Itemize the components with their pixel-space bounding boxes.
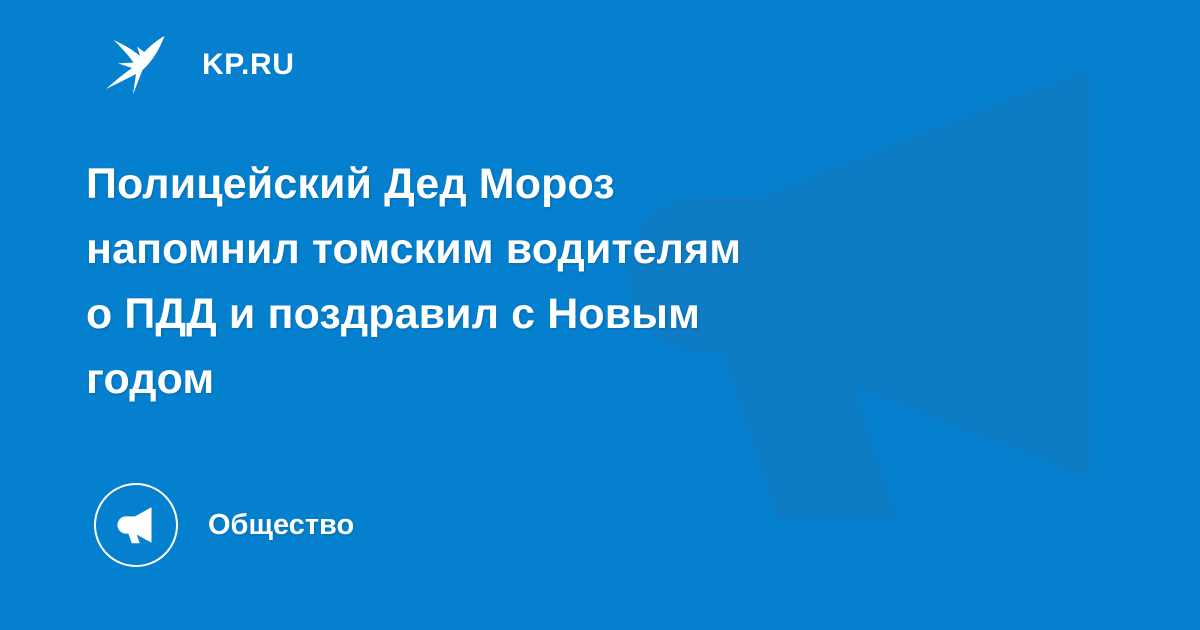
social-share-card: KP.RU Полицейский Дед Мороз напомнил том…	[0, 0, 1200, 630]
headline-line-4: годом	[86, 347, 966, 412]
swallow-bird-icon	[104, 34, 174, 96]
headline-line-1: Полицейский Дед Мороз	[86, 152, 966, 217]
page-title: Полицейский Дед Мороз напомнил томским в…	[86, 152, 966, 412]
category-icon-circle	[94, 483, 178, 567]
megaphone-icon	[113, 505, 159, 545]
brand-wordmark: KP.RU	[202, 50, 294, 80]
category-label: Общество	[208, 511, 354, 540]
site-logo[interactable]: KP.RU	[104, 34, 294, 96]
headline-line-3: о ПДД и поздравил с Новым	[86, 282, 966, 347]
category-badge[interactable]: Общество	[94, 483, 354, 567]
headline-line-2: напомнил томским водителям	[86, 217, 966, 282]
